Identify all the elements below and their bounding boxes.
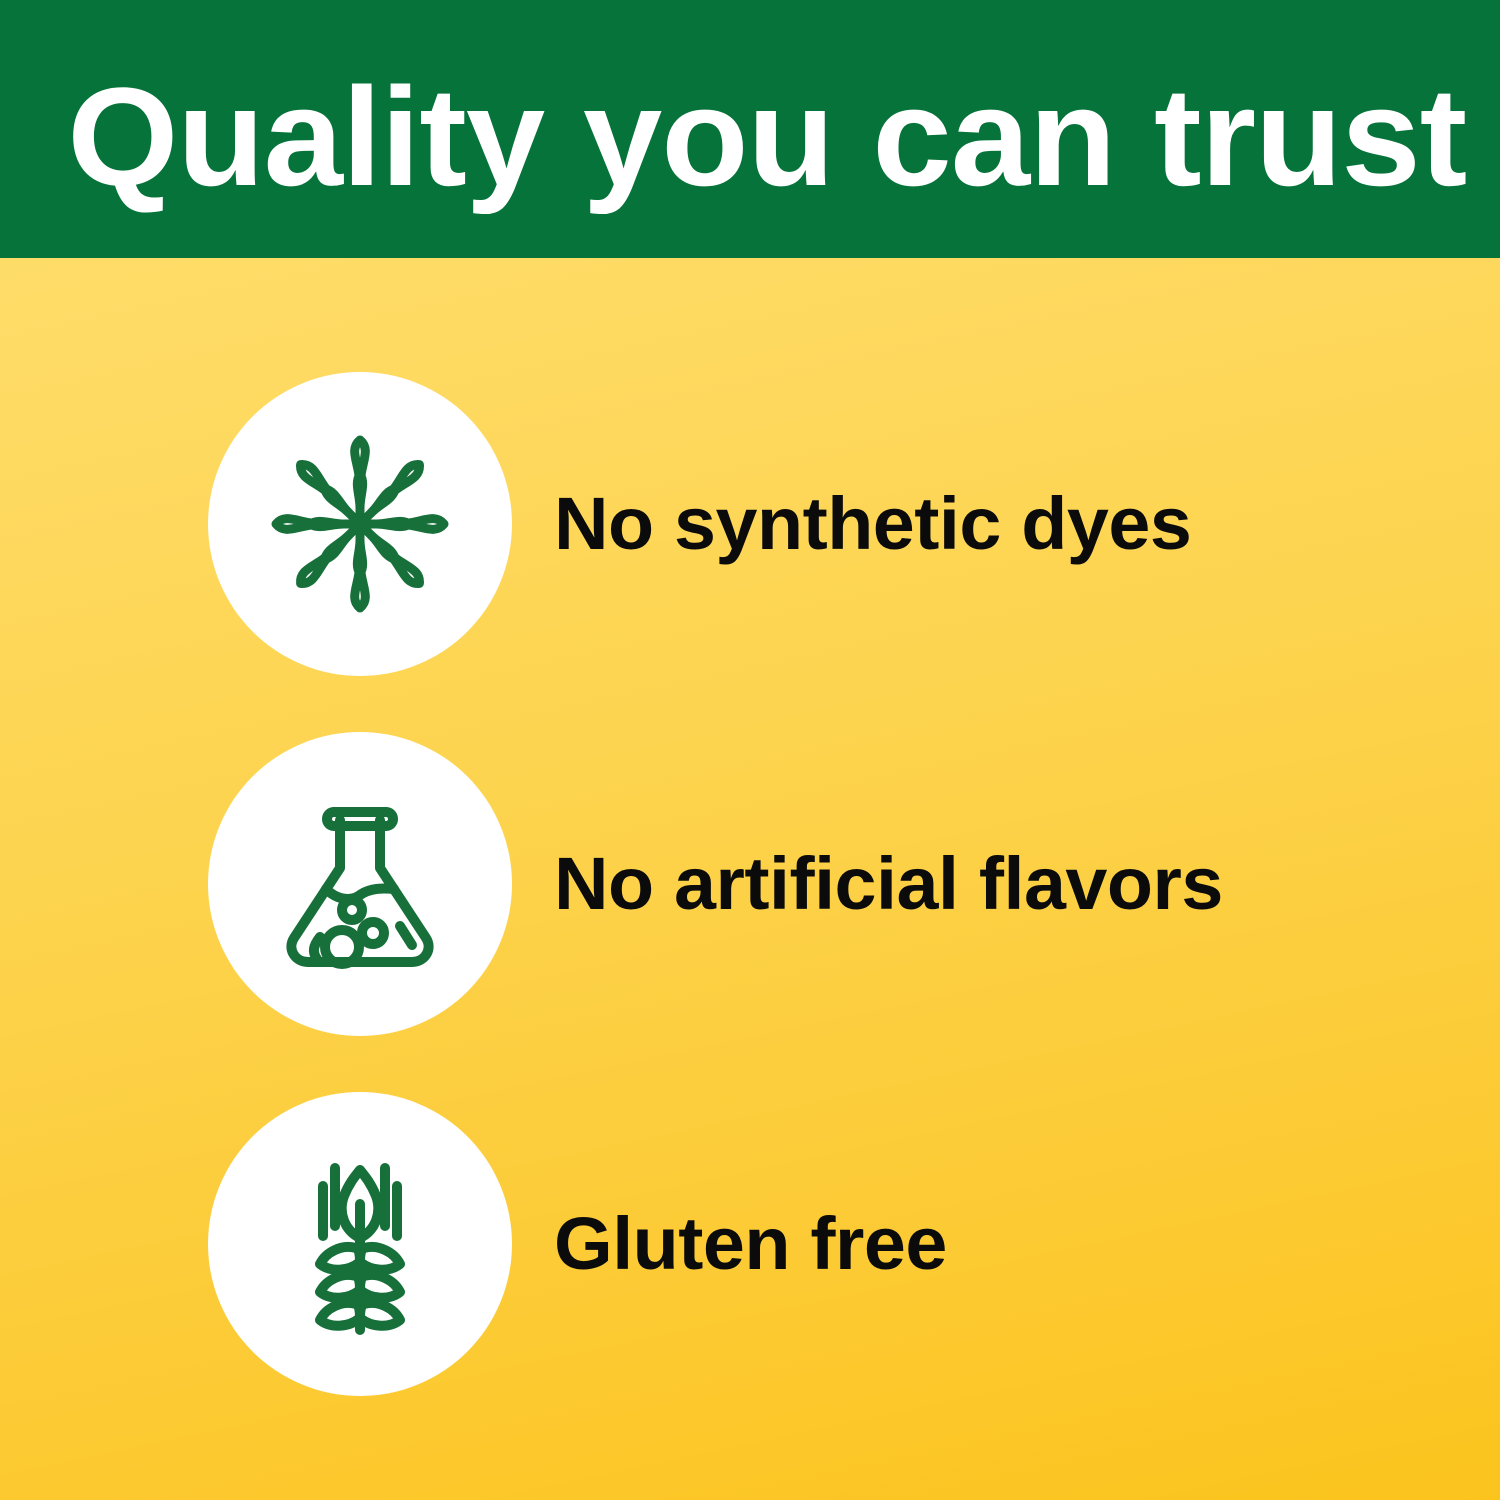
page-title: Quality you can trust	[0, 70, 1466, 204]
feature-label-no-artificial-flavors: No artificial flavors	[554, 847, 1223, 921]
feature-list: No synthetic dyes	[0, 258, 1500, 1500]
flower-petals-icon	[260, 424, 460, 624]
feature-label-gluten-free: Gluten free	[554, 1207, 947, 1281]
feature-label-no-synthetic-dyes: No synthetic dyes	[554, 487, 1191, 561]
icon-badge-gluten-free	[208, 1092, 512, 1396]
icon-badge-no-synthetic-dyes	[208, 372, 512, 676]
feature-item-no-synthetic-dyes: No synthetic dyes	[208, 372, 1179, 676]
quality-badges-poster: Quality you can trust	[0, 0, 1500, 1500]
erlenmeyer-flask-icon	[260, 784, 460, 984]
wheat-stalk-icon	[260, 1144, 460, 1344]
feature-item-gluten-free: Gluten free	[208, 1092, 939, 1396]
header-banner: Quality you can trust	[0, 0, 1500, 258]
feature-item-no-artificial-flavors: No artificial flavors	[208, 732, 1210, 1036]
icon-badge-no-artificial-flavors	[208, 732, 512, 1036]
